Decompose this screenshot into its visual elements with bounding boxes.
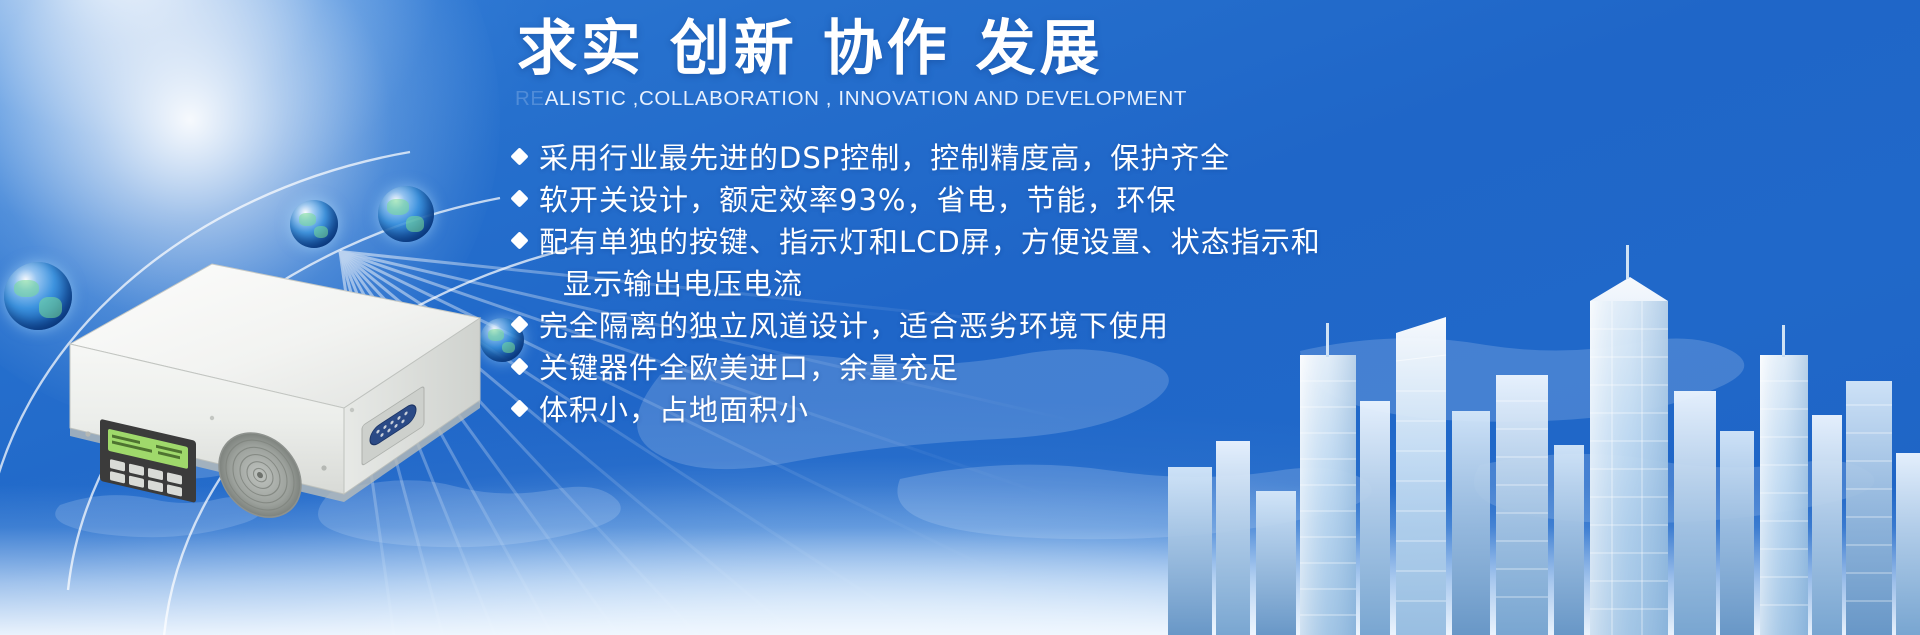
globe-icon-2 — [290, 200, 338, 248]
diamond-bullet-icon — [510, 315, 528, 333]
list-item: 软开关设计，额定效率93%，省电，节能，环保 — [505, 179, 1465, 221]
promo-banner: 求实 创新 协作 发展 REALISTIC ,COLLABORATION , I… — [0, 0, 1920, 635]
list-item: 关键器件全欧美进口，余量充足 — [505, 347, 1465, 389]
list-item: 完全隔离的独立风道设计，适合恶劣环境下使用 — [505, 305, 1465, 347]
feature-list: 采用行业最先进的DSP控制，控制精度高，保护齐全 软开关设计，额定效率93%，省… — [505, 137, 1465, 431]
list-item-continuation: 显示输出电压电流 — [505, 263, 1465, 305]
subtitle-faint-prefix: RE — [515, 87, 545, 110]
page-title: 求实 创新 协作 发展 — [517, 14, 1465, 85]
feature-text: 采用行业最先进的DSP控制，控制精度高，保护齐全 — [539, 141, 1230, 175]
subtitle-text: ALISTIC ,COLLABORATION , INNOVATION AND … — [545, 87, 1187, 110]
globe-icon-3 — [378, 186, 434, 242]
banner-text-block: 求实 创新 协作 发展 REALISTIC ,COLLABORATION , I… — [505, 14, 1465, 431]
diamond-bullet-icon — [510, 231, 528, 249]
feature-text: 软开关设计，额定效率93%，省电，节能，环保 — [539, 183, 1176, 217]
list-item: 体积小，占地面积小 — [505, 389, 1465, 431]
diamond-bullet-icon — [510, 399, 528, 417]
list-item: 采用行业最先进的DSP控制，控制精度高，保护齐全 — [505, 137, 1465, 179]
page-subtitle: REALISTIC ,COLLABORATION , INNOVATION AN… — [515, 87, 1465, 111]
diamond-bullet-icon — [510, 357, 528, 375]
feature-text: 完全隔离的独立风道设计，适合恶劣环境下使用 — [539, 309, 1169, 343]
globe-icon-1 — [4, 262, 72, 330]
rack-mount-power-supply-image — [62, 258, 482, 520]
diamond-bullet-icon — [510, 147, 528, 165]
list-item: 配有单独的按键、指示灯和LCD屏，方便设置、状态指示和 — [505, 221, 1465, 263]
diamond-bullet-icon — [510, 189, 528, 207]
feature-text: 配有单独的按键、指示灯和LCD屏，方便设置、状态指示和 — [539, 225, 1321, 259]
feature-text: 关键器件全欧美进口，余量充足 — [539, 351, 959, 385]
feature-text: 显示输出电压电流 — [563, 267, 803, 301]
sun-glow — [0, 0, 500, 430]
feature-text: 体积小，占地面积小 — [539, 393, 809, 427]
ground-horizon — [0, 485, 1920, 635]
